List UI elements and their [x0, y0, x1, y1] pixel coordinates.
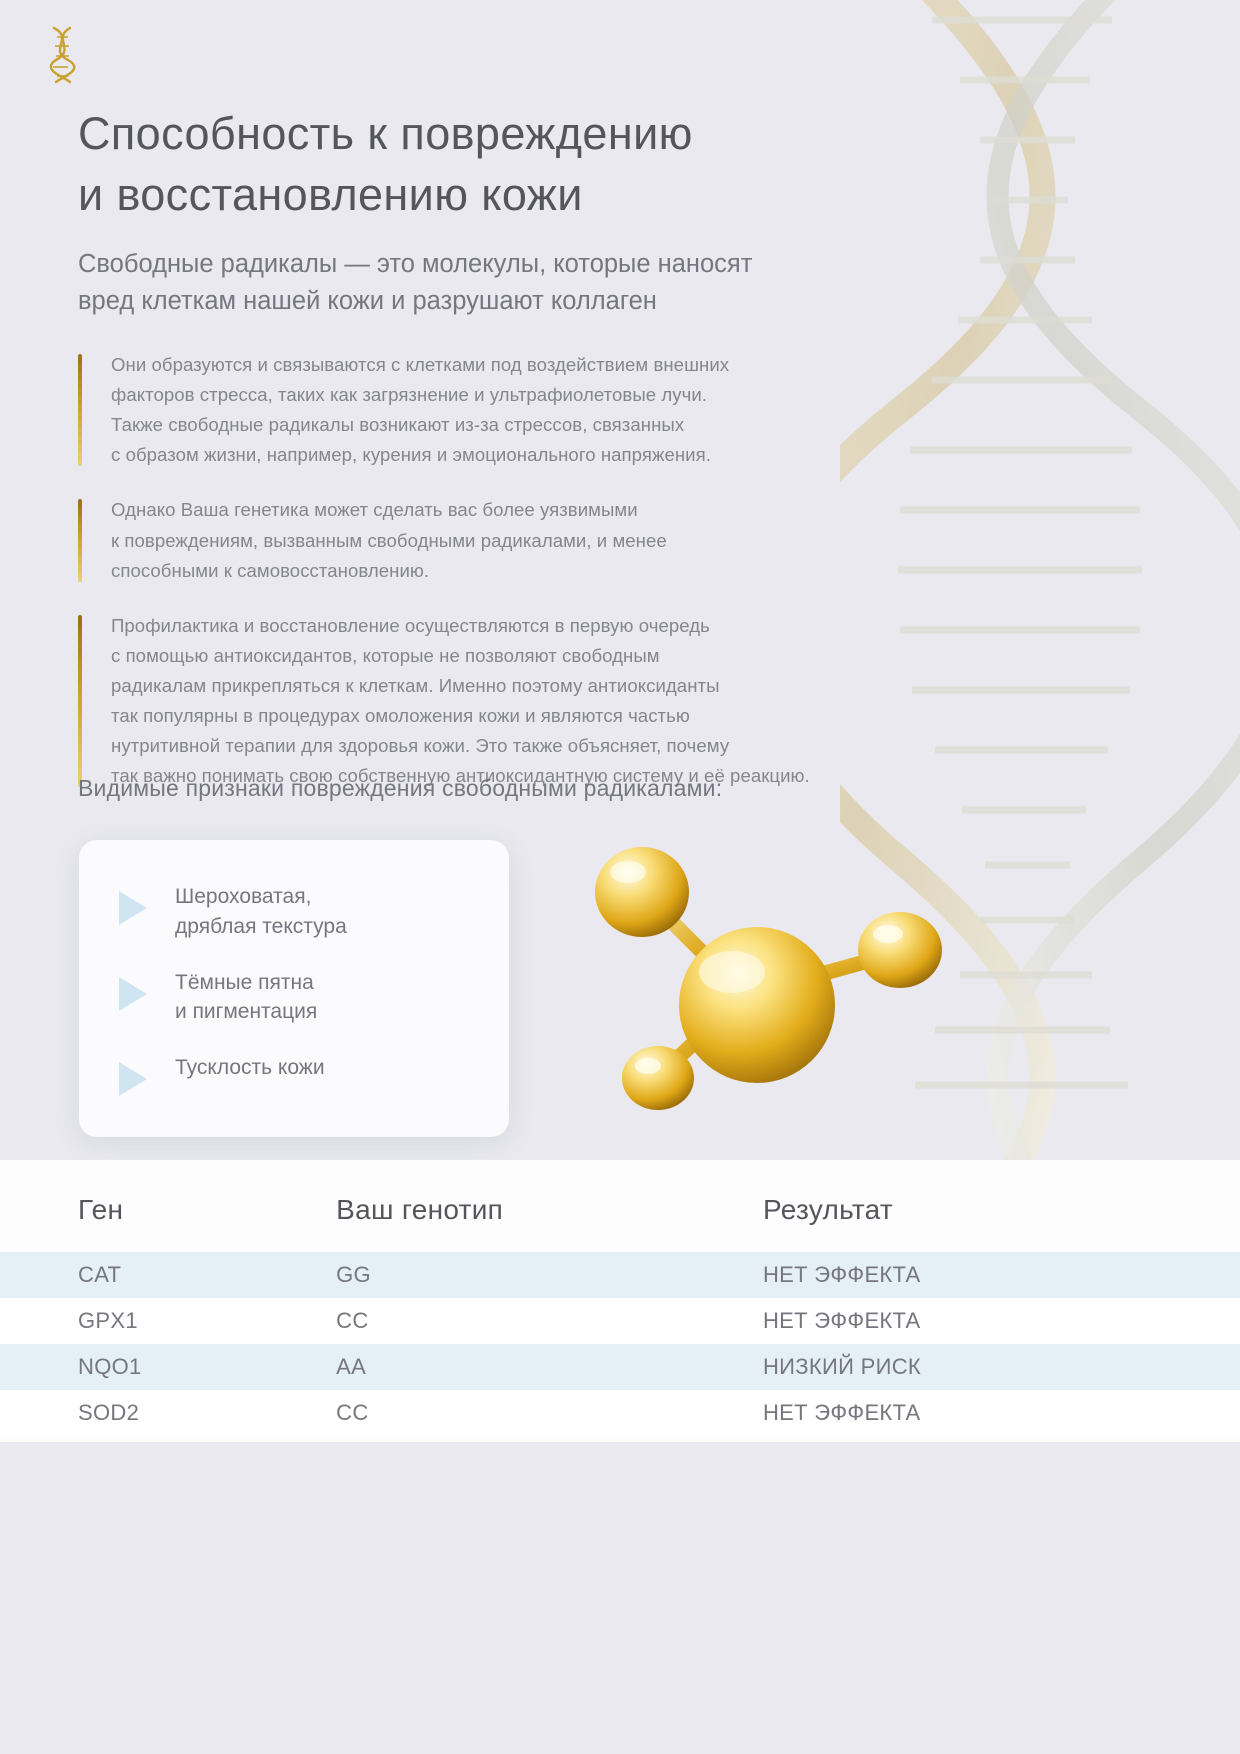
- list-item: Тёмные пятна и пигментация: [109, 968, 481, 1028]
- list-item: Тусклость кожи: [109, 1053, 481, 1096]
- play-triangle-icon: [119, 891, 147, 925]
- list-item-label: Тусклость кожи: [175, 1053, 325, 1083]
- cell-genotype: AA: [336, 1344, 763, 1390]
- list-item-label: Тёмные пятна и пигментация: [175, 968, 317, 1028]
- paragraph-block: Они образуются и связываются с клетками …: [78, 350, 958, 470]
- status-badge: НЕТ ЭФФЕКТА: [763, 1252, 1240, 1298]
- page-subtitle: Свободные радикалы — это молекулы, котор…: [78, 246, 958, 320]
- visible-signs-card: Шероховатая, дряблая текстура Тёмные пят…: [79, 840, 509, 1137]
- paragraph-text: Они образуются и связываются с клетками …: [111, 350, 958, 470]
- table-row: NQO1 AA НИЗКИЙ РИСК: [0, 1344, 1240, 1390]
- cell-gene: NQO1: [0, 1344, 336, 1390]
- list-item: Шероховатая, дряблая текстура: [109, 882, 481, 942]
- page-title: Способность к повреждению и восстановлен…: [78, 104, 958, 226]
- cell-genotype: GG: [336, 1252, 763, 1298]
- gold-accent-bar: [78, 354, 82, 466]
- report-page: Способность к повреждению и восстановлен…: [0, 0, 1240, 1754]
- column-header-genotype: Ваш генотип: [336, 1160, 763, 1252]
- list-item-label: Шероховатая, дряблая текстура: [175, 882, 347, 942]
- play-triangle-icon: [119, 1062, 147, 1096]
- table-row: SOD2 CC НЕТ ЭФФЕКТА: [0, 1390, 1240, 1436]
- paragraph-text: Однако Ваша генетика может сделать вас б…: [111, 495, 958, 585]
- table-row: GPX1 CC НЕТ ЭФФЕКТА: [0, 1298, 1240, 1344]
- table-row: CAT GG НЕТ ЭФФЕКТА: [0, 1252, 1240, 1298]
- gold-accent-bar: [78, 499, 82, 581]
- cell-genotype: CC: [336, 1390, 763, 1436]
- molecule-illustration: [560, 820, 1040, 1180]
- genotype-table-wrap: Ген Ваш генотип Результат CAT GG НЕТ ЭФФ…: [0, 1160, 1240, 1442]
- cell-gene: GPX1: [0, 1298, 336, 1344]
- genotype-table: Ген Ваш генотип Результат CAT GG НЕТ ЭФФ…: [0, 1160, 1240, 1436]
- cell-genotype: CC: [336, 1298, 763, 1344]
- column-header-result: Результат: [763, 1160, 1240, 1252]
- paragraph-list: Они образуются и связываются с клетками …: [78, 350, 958, 791]
- cell-gene: SOD2: [0, 1390, 336, 1436]
- paragraph-block: Однако Ваша генетика может сделать вас б…: [78, 495, 958, 585]
- status-badge: НИЗКИЙ РИСК: [763, 1344, 1240, 1390]
- status-badge: НЕТ ЭФФЕКТА: [763, 1298, 1240, 1344]
- cell-gene: CAT: [0, 1252, 336, 1298]
- paragraph-text: Профилактика и восстановление осуществля…: [111, 611, 958, 792]
- play-triangle-icon: [119, 977, 147, 1011]
- dna-helix-icon: [38, 24, 86, 86]
- status-badge: НЕТ ЭФФЕКТА: [763, 1390, 1240, 1436]
- signs-heading: Видимые признаки повреждения свободными …: [78, 775, 722, 802]
- table-header-row: Ген Ваш генотип Результат: [0, 1160, 1240, 1252]
- gold-accent-bar: [78, 615, 82, 788]
- column-header-gene: Ген: [0, 1160, 336, 1252]
- paragraph-block: Профилактика и восстановление осуществля…: [78, 611, 958, 792]
